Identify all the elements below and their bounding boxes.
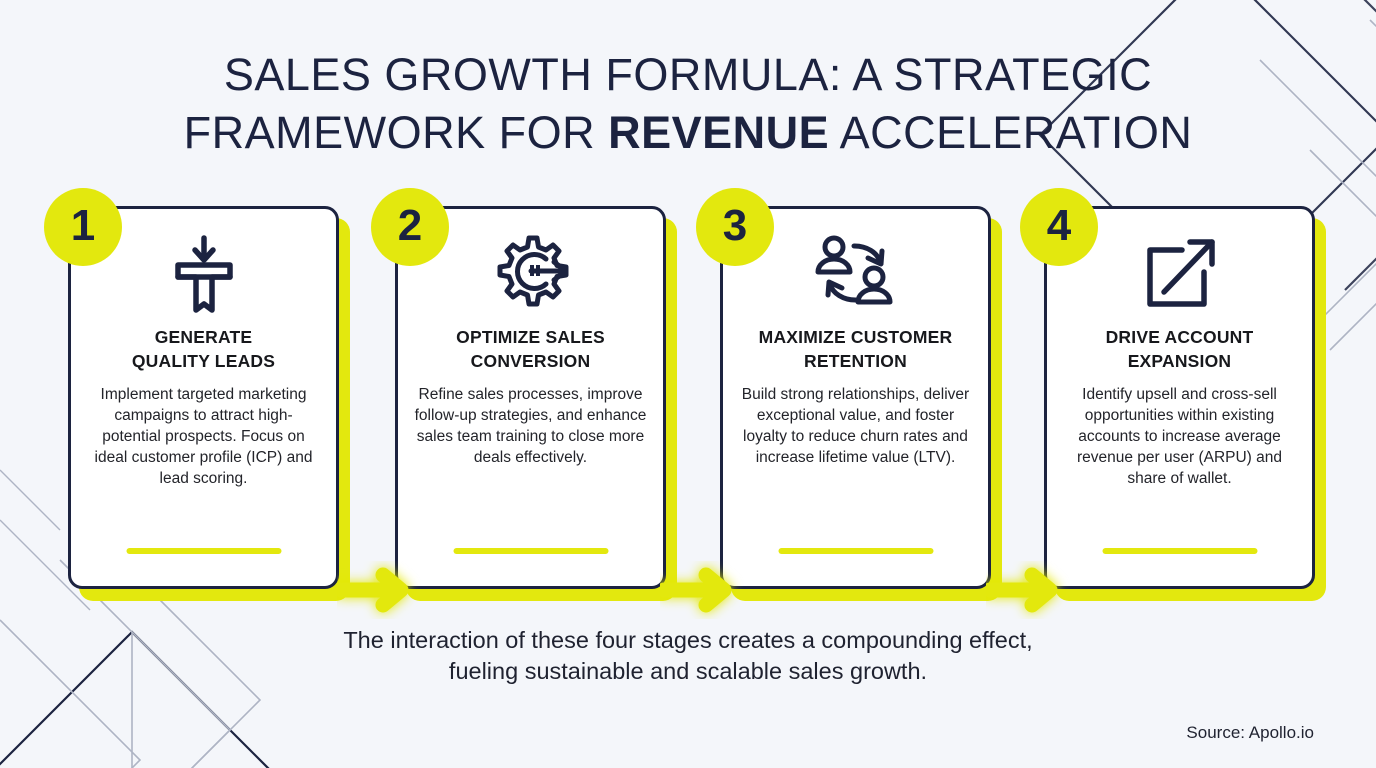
title-line-2: FRAMEWORK FOR REVENUE ACCELERATION [0,104,1376,162]
step-number: 2 [398,204,422,248]
step-number: 1 [71,204,95,248]
card-accent-bar [1102,548,1257,554]
connector-arrow-2 [660,561,744,619]
footer-line-2: fueling sustainable and scalable sales g… [0,656,1376,687]
footer-summary: The interaction of these four stages cre… [0,625,1376,687]
source-attribution: Source: Apollo.io [1186,723,1314,743]
card-accent-bar [126,548,281,554]
footer-line-1: The interaction of these four stages cre… [0,625,1376,656]
step-card-2[interactable]: OPTIMIZE SALES CONVERSION Refine sales p… [395,206,666,589]
card-accent-bar [453,548,608,554]
step-number: 4 [1047,204,1071,248]
card-surface: OPTIMIZE SALES CONVERSION Refine sales p… [395,206,666,589]
connector-arrow-1 [337,561,421,619]
card-surface: GENERATE QUALITY LEADS Implement targete… [68,206,339,589]
card-body: Build strong relationships, deliver exce… [739,384,972,468]
card-title: OPTIMIZE SALES CONVERSION [456,325,605,373]
people-cycle-icon [810,231,902,317]
card-body: Implement targeted marketing campaigns t… [87,384,320,489]
card-title: DRIVE ACCOUNT EXPANSION [1106,325,1254,373]
step-card-3[interactable]: MAXIMIZE CUSTOMER RETENTION Build strong… [720,206,991,589]
step-card-1[interactable]: GENERATE QUALITY LEADS Implement targete… [68,206,339,589]
arrow-right-icon [986,561,1070,619]
arrow-right-icon [337,561,421,619]
step-badge-1: 1 [44,188,122,266]
card-title: MAXIMIZE CUSTOMER RETENTION [759,325,953,373]
funnel-icon [162,231,246,317]
card-surface: DRIVE ACCOUNT EXPANSION Identify upsell … [1044,206,1315,589]
title-emphasis-revenue: REVENUE [608,107,829,158]
card-accent-bar [778,548,933,554]
steps-row: GENERATE QUALITY LEADS Implement targete… [0,206,1376,596]
page-title: SALES GROWTH FORMULA: A STRATEGIC FRAMEW… [0,46,1376,162]
card-body: Identify upsell and cross-sell opportuni… [1063,384,1296,489]
card-body: Refine sales processes, improve follow-u… [414,384,647,468]
growth-arrow-icon [1138,231,1222,317]
card-surface: MAXIMIZE CUSTOMER RETENTION Build strong… [720,206,991,589]
title-line-2-pre: FRAMEWORK FOR [184,107,608,158]
connector-arrow-3 [986,561,1070,619]
title-line-1: SALES GROWTH FORMULA: A STRATEGIC [0,46,1376,104]
gear-arrow-icon [488,231,574,317]
step-badge-2: 2 [371,188,449,266]
step-card-4[interactable]: DRIVE ACCOUNT EXPANSION Identify upsell … [1044,206,1315,589]
title-line-2-post: ACCELERATION [829,107,1192,158]
step-badge-3: 3 [696,188,774,266]
card-title: GENERATE QUALITY LEADS [132,325,275,373]
step-number: 3 [723,204,747,248]
step-badge-4: 4 [1020,188,1098,266]
arrow-right-icon [660,561,744,619]
